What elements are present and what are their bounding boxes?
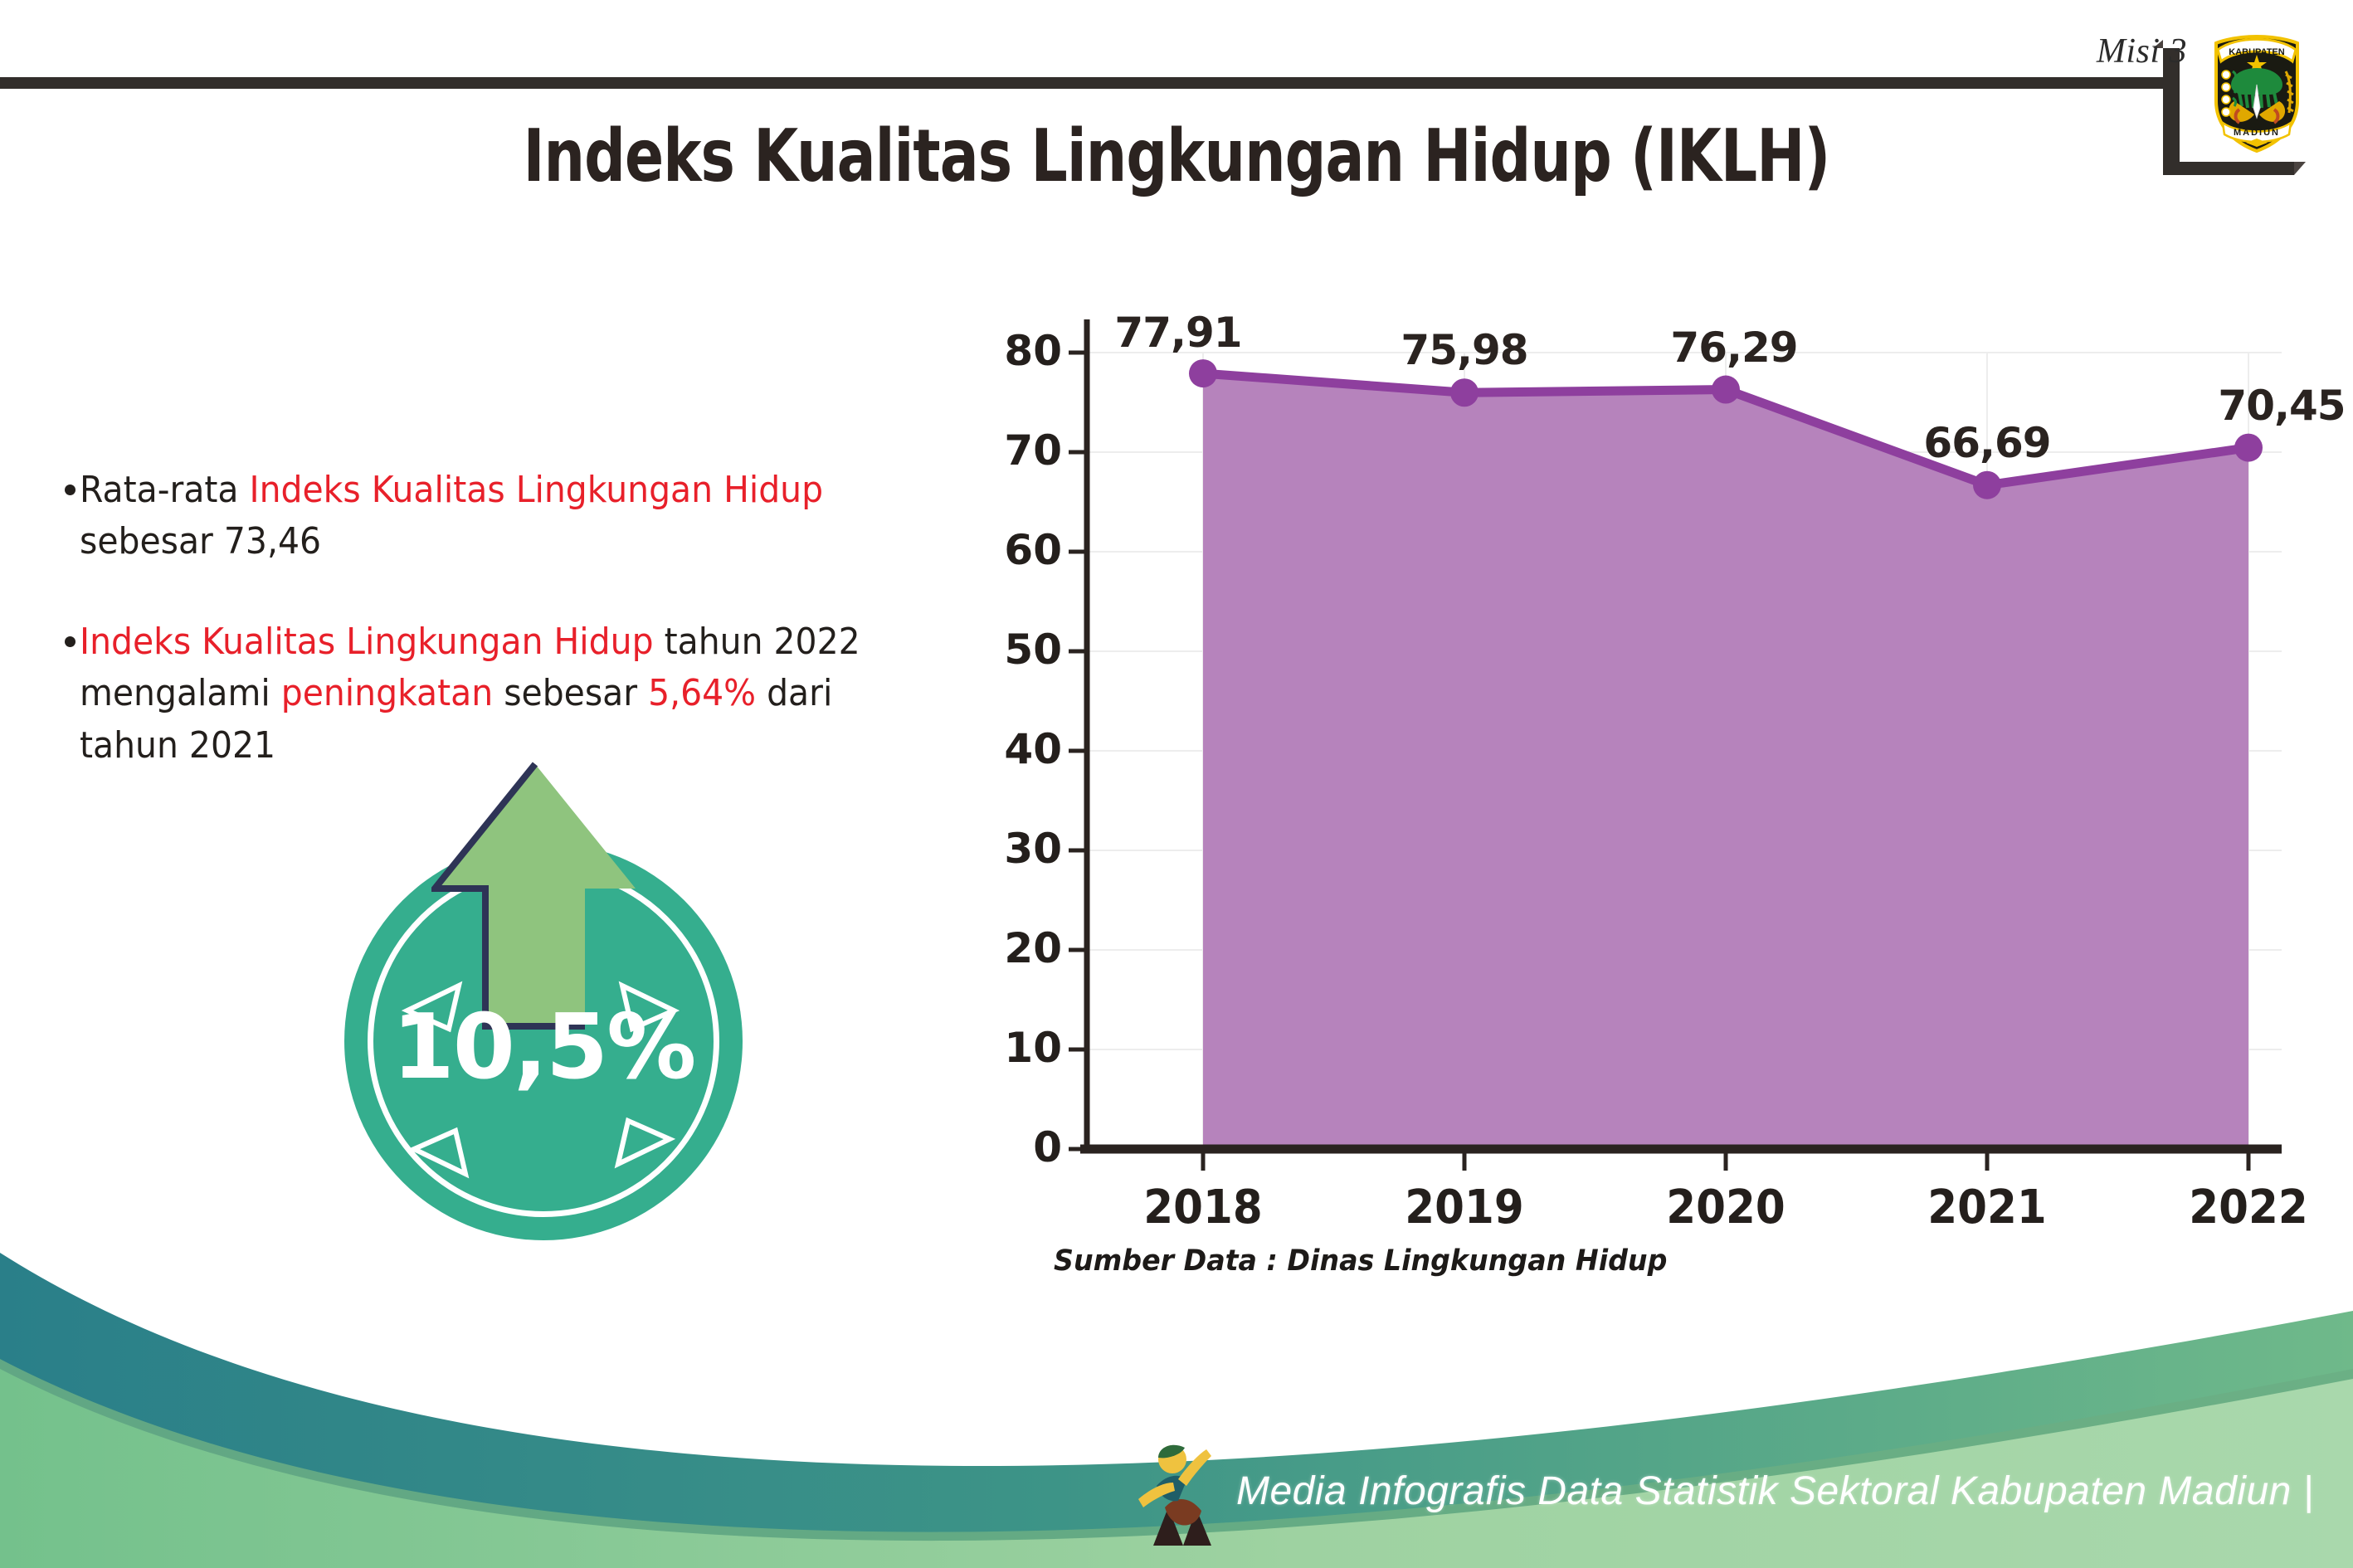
badge-value: 10,5% (344, 996, 743, 1099)
bullet-1-segment-0: Indeks Kualitas Lingkungan Hidup (80, 621, 654, 663)
chart-y-tick-label: 70 (962, 426, 1062, 475)
page-title: Indeks Kualitas Lingkungan Hidup (IKLH) (71, 114, 2282, 198)
iklh-area-chart: 01020304050607080 20182019202020212022 7… (962, 274, 2307, 1286)
chart-x-tick-label: 2019 (1365, 1181, 1563, 1234)
chart-y-tick-label: 30 (962, 825, 1062, 873)
bullet-item-increase: Indeks Kualitas Lingkungan Hidup tahun 2… (65, 616, 944, 772)
chart-x-tick-label: 2021 (1888, 1181, 2086, 1234)
chart-marker (1450, 378, 1479, 407)
bullet-text-average: Rata-rata Indeks Kualitas Lingkungan Hid… (80, 465, 884, 568)
chart-y-tick-label: 20 (962, 924, 1062, 972)
bullet-item-average: Rata-rata Indeks Kualitas Lingkungan Hid… (65, 465, 944, 568)
growth-badge: 10,5% (328, 759, 767, 1211)
chart-marker (2234, 434, 2263, 462)
misi-label: Misi 3 (2097, 32, 2187, 71)
chart-x-tick-label: 2022 (2149, 1181, 2347, 1234)
chart-marker (1712, 376, 1740, 404)
bullet-dot-icon (65, 485, 76, 495)
statistics-figure-icon (1135, 1431, 1226, 1547)
sparkle-triangle-bottom-left-icon (407, 1124, 474, 1182)
chart-data-label: 75,98 (1357, 326, 1572, 374)
chart-canvas (962, 274, 2307, 1286)
chart-y-tick-label: 10 (962, 1024, 1062, 1072)
bullet-0-segment-2: sebesar 73,46 (80, 520, 321, 562)
bullet-1-segment-4: 5,64% (648, 672, 756, 714)
bullet-dot-icon (65, 636, 76, 647)
bullet-0-segment-1: Indeks Kualitas Lingkungan Hidup (250, 469, 824, 511)
chart-data-label: 77,91 (1070, 309, 1286, 357)
bullet-0-segment-0: Rata-rata (80, 469, 250, 511)
sparkle-triangle-bottom-right-icon (610, 1114, 676, 1172)
chart-x-tick-label: 2018 (1103, 1181, 1302, 1234)
chart-y-tick-label: 80 (962, 327, 1062, 375)
chart-y-tick-label: 60 (962, 526, 1062, 574)
chart-area-fill (1203, 373, 2248, 1149)
chart-y-tick-label: 50 (962, 626, 1062, 674)
bullet-text-increase: Indeks Kualitas Lingkungan Hidup tahun 2… (80, 616, 884, 772)
bullet-1-segment-3: sebesar (493, 672, 648, 714)
chart-x-tick-label: 2020 (1626, 1181, 1824, 1234)
chart-data-label: 76,29 (1626, 324, 1842, 372)
chart-data-label: 66,69 (1879, 419, 2095, 467)
footer-text: Media Infografis Data Statistik Sektoral… (1236, 1468, 2314, 1514)
bullet-1-segment-2: peningkatan (281, 672, 493, 714)
chart-marker (1189, 359, 1217, 387)
chart-y-tick-label: 0 (962, 1123, 1062, 1171)
header-rule (0, 77, 2163, 89)
chart-data-label: 70,45 (2174, 382, 2353, 430)
chart-marker (1973, 471, 2001, 499)
chart-y-tick-label: 40 (962, 725, 1062, 773)
